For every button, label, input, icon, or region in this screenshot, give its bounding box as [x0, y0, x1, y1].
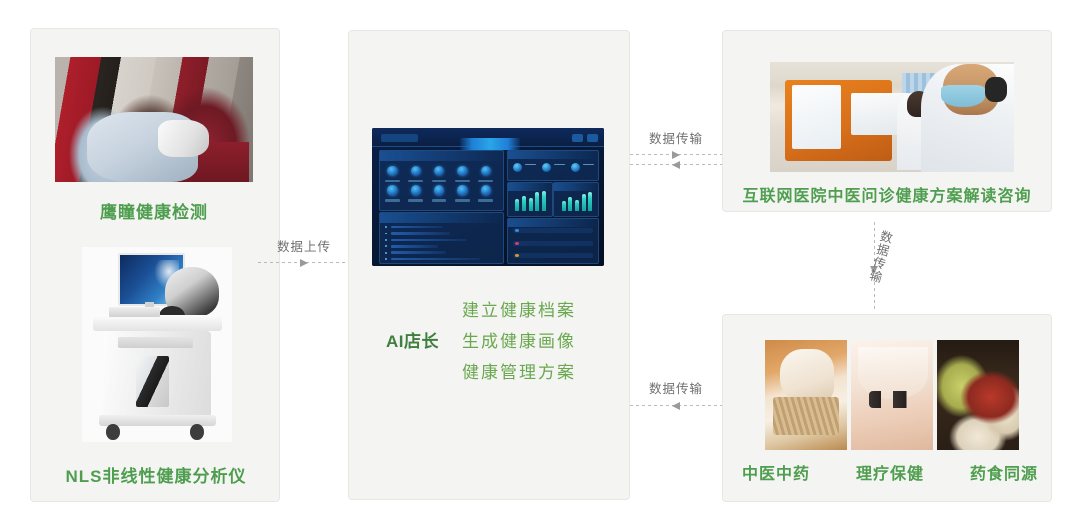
connector-data-upload-label: 数据上传: [258, 236, 350, 255]
dashboard-bar: [515, 199, 519, 211]
dashboard-metric-label: [408, 199, 423, 202]
dashboard-list-bullet: [385, 245, 387, 247]
caption-tcm-food-therapy: 药食同源: [970, 460, 1038, 484]
ai-manager-feature-list: 建立健康档案 生成健康画像 健康管理方案: [462, 295, 576, 388]
connector-data-transfer-top-arrow-left: [630, 164, 722, 165]
connector-data-transfer-vertical-label: 数据传输: [864, 228, 896, 285]
dashboard-list-bullet: [385, 233, 387, 235]
dashboard-kpi-icon: [571, 163, 580, 172]
dashboard-title-banner: [460, 138, 520, 150]
dashboard-message-avatar: [515, 242, 519, 245]
dashboard-message-row: [513, 253, 593, 258]
connector-data-upload: 数据上传: [258, 236, 350, 263]
photo-tcm-herbal-medicine: [765, 340, 847, 450]
photo-tcm-food-therapy: [937, 340, 1019, 450]
dashboard-metric-label: [478, 199, 493, 202]
dashboard-card-icon-grid-header: [380, 151, 503, 160]
dashboard-metric-icon: [457, 166, 467, 176]
photo-tcm-physiotherapy: [851, 340, 933, 450]
dashboard-list-bullet: [385, 226, 387, 228]
dashboard-bar: [568, 197, 572, 211]
connector-data-transfer-top-label: 数据传输: [630, 128, 722, 147]
dashboard-metric-label: [385, 180, 400, 183]
caption-tcm-herbal-medicine: 中医中药: [742, 460, 810, 484]
diagram-canvas: 鹰瞳健康检测 NLS非线性健康分析仪 数据上传: [0, 0, 1080, 528]
dashboard-list-row: [391, 258, 480, 261]
caption-group-tcm: 中医中药 理疗保健 药食同源: [742, 460, 1038, 484]
connector-data-transfer-top: 数据传输: [630, 128, 722, 165]
nls-wheel-right: [190, 424, 204, 440]
dashboard-metric-icon: [481, 185, 491, 195]
dashboard-bar: [562, 201, 566, 211]
dashboard-card-bar-chart-b-header: [554, 183, 598, 191]
dashboard-bar: [575, 200, 579, 211]
connector-data-transfer-vertical: 数据传输: [852, 222, 930, 310]
caption-nls-analyzer: NLS非线性健康分析仪: [40, 462, 272, 487]
dashboard-metric-icon: [411, 166, 421, 176]
dashboard-metric-icon: [411, 185, 421, 195]
dashboard-metric-label: [408, 180, 423, 183]
photo-internet-hospital-consult: [770, 62, 1014, 172]
connector-data-transfer-bottom-arrow: [630, 405, 722, 406]
photo-eye-screening: [55, 57, 253, 182]
dashboard-metric-icon: [481, 166, 491, 176]
nls-keyboard: [109, 307, 160, 317]
dashboard-message-row: [513, 241, 593, 246]
dashboard-message-row: [513, 228, 593, 233]
dashboard-metric-label: [478, 180, 493, 183]
dashboard-metric-icon: [457, 185, 467, 195]
dashboard-kpi-icon: [542, 163, 551, 172]
dashboard-message-avatar: [515, 229, 519, 232]
dashboard-message-avatar: [515, 254, 519, 257]
dashboard-action-2: [587, 134, 599, 142]
nls-headset: [165, 267, 219, 318]
dashboard-metric-label: [432, 199, 447, 202]
dashboard-card-kpi-header: [508, 151, 598, 159]
dashboard-metric-icon: [387, 185, 397, 195]
photo-hospital-whiteboard: [792, 85, 841, 149]
connector-data-upload-arrow: [258, 262, 350, 263]
dashboard-list-row: [391, 251, 446, 254]
dashboard-bar: [535, 192, 539, 211]
dashboard-card-list: [379, 212, 504, 264]
nls-desk: [93, 315, 222, 331]
dashboard-card-kpi: [507, 150, 599, 181]
dashboard-metric-label: [385, 199, 400, 202]
dashboard-list-bullet: [385, 258, 387, 260]
dashboard-card-bar-chart-a: [507, 182, 553, 217]
ai-feature-item: 建立健康档案: [462, 295, 576, 326]
dashboard-list-row: [391, 226, 443, 229]
dashboard-card-bar-chart-b: [553, 182, 599, 217]
ai-feature-item: 生成健康画像: [462, 326, 576, 357]
dashboard-list-bullet: [385, 252, 387, 254]
dashboard-metric-icon: [434, 185, 444, 195]
dashboard-metric-label: [432, 180, 447, 183]
photo-hospital-headset: [985, 77, 1007, 101]
dashboard-card-messages: [507, 218, 599, 264]
dashboard-card-messages-header: [508, 219, 598, 227]
dashboard-card-icon-grid: [379, 150, 504, 211]
caption-internet-hospital: 互联网医院中医问诊健康方案解读咨询: [726, 182, 1048, 206]
photo-eye-screening-device: [158, 120, 209, 158]
dashboard-card-list-header: [380, 213, 503, 222]
nls-drawer: [118, 337, 193, 349]
dashboard-list-row: [391, 232, 450, 235]
ai-feature-item: 健康管理方案: [462, 357, 576, 388]
dashboard-metric-icon: [434, 166, 444, 176]
dashboard-kpi-value: [583, 164, 595, 165]
dashboard-metric-label: [455, 199, 470, 202]
photo-group-tcm: [765, 340, 1019, 450]
dashboard-metric-icon: [387, 166, 397, 176]
connector-data-transfer-bottom: 数据传输: [630, 378, 722, 406]
dashboard-list-row: [391, 239, 467, 242]
photo-hospital-face-mask: [941, 85, 985, 107]
dashboard-kpi-value: [525, 164, 537, 165]
dashboard-bar: [529, 198, 533, 211]
caption-eye-screening: 鹰瞳健康检测: [55, 198, 253, 223]
photo-nls-analyzer: [82, 247, 232, 442]
dashboard-bar: [588, 192, 592, 211]
dashboard-card-bar-chart-a-header: [508, 183, 552, 191]
connector-data-transfer-top-arrow-right: [630, 154, 722, 155]
dashboard-bar: [542, 191, 546, 212]
ai-manager-label: AI店长: [386, 327, 439, 352]
dashboard-bar: [582, 194, 586, 211]
photo-health-dashboard: [372, 128, 604, 266]
dashboard-action-1: [572, 134, 584, 142]
caption-tcm-physiotherapy: 理疗保健: [856, 460, 924, 484]
connector-data-transfer-bottom-label: 数据传输: [630, 378, 722, 397]
dashboard-kpi-value: [554, 164, 566, 165]
dashboard-kpi-icon: [513, 163, 522, 172]
dashboard-metric-label: [455, 180, 470, 183]
dashboard-list-row: [391, 245, 438, 248]
dashboard-bar: [522, 196, 526, 211]
nls-pc-tower: [136, 356, 169, 407]
nls-wheel-left: [106, 424, 120, 440]
dashboard-breadcrumb: [381, 134, 418, 142]
dashboard-list-bullet: [385, 239, 387, 241]
